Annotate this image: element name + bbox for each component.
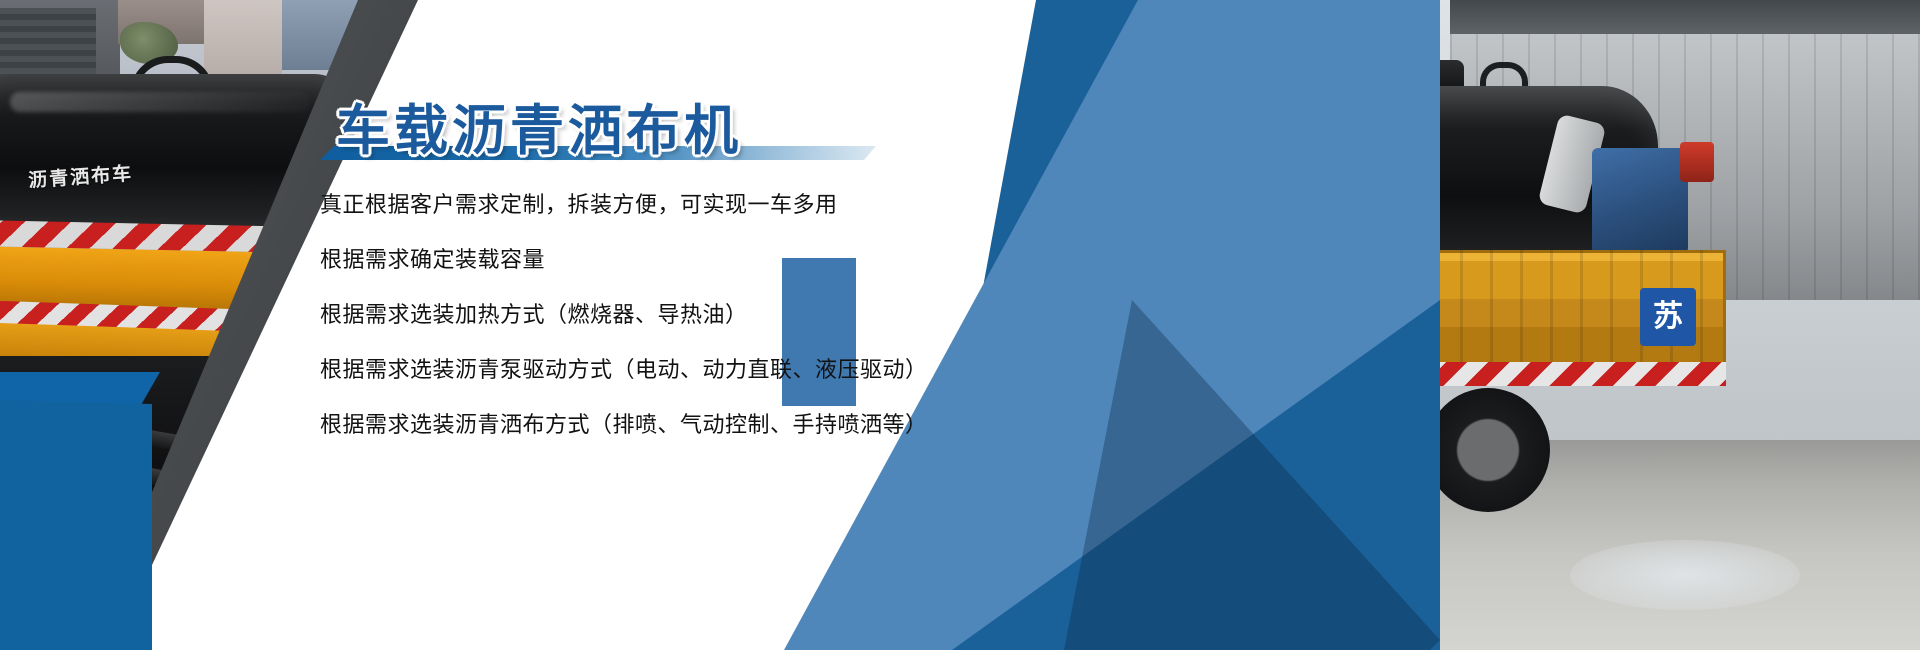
list-item: 根据需求选装加热方式（燃烧器、导热油） [320,304,940,326]
list-item: 真正根据客户需求定制，拆装方便，可实现一车多用 [320,194,940,216]
banner-content: 车载沥青洒布机 真正根据客户需求定制，拆装方便，可实现一车多用 根据需求确定装载… [320,86,940,436]
right-photo-door-logo: 苏 [1640,288,1696,346]
right-photo-puddle [1570,540,1800,610]
right-photo-shed-roof [1450,0,1920,34]
right-photo-engine-red-part [1680,142,1714,182]
list-item: 根据需求选装沥青泵驱动方式（电动、动力直联、液压驱动） [320,359,940,381]
right-photo-rear-wheel [1426,388,1550,512]
page-title: 车载沥青洒布机 [336,86,742,165]
title-block: 车载沥青洒布机 [320,86,940,166]
list-item: 根据需求确定装载容量 [320,249,940,271]
right-photo-engine-unit [1592,148,1688,254]
list-item: 根据需求选装沥青洒布方式（排喷、气动控制、手持喷洒等） [320,414,940,436]
left-photo-tank-highlight [10,92,310,112]
product-banner: 沥青洒布车 苏 [0,0,1920,650]
feature-list: 真正根据客户需求定制，拆装方便，可实现一车多用 根据需求确定装载容量 根据需求选… [320,194,940,436]
